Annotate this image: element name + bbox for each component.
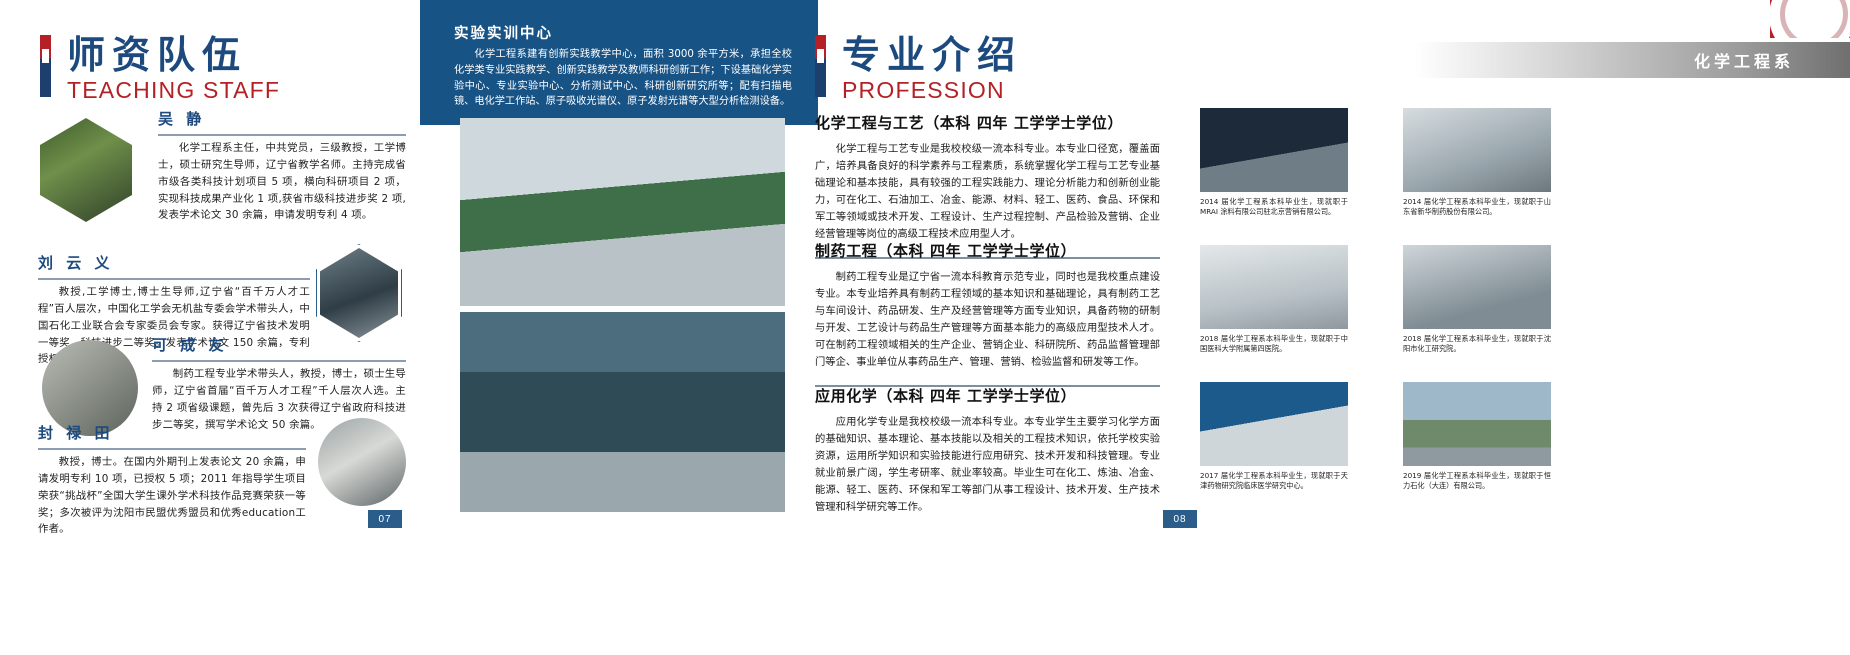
page-number-right: 08 [1163, 510, 1197, 528]
lab-center-title: 实验实训中心 [454, 22, 792, 43]
alumni-photo-0 [1200, 108, 1348, 192]
alumni-card-0: 2014 届化学工程系本科毕业生，现就职于 MRAI 涂料有限公司驻北京营销有限… [1200, 108, 1348, 218]
profession-title-1: 制药工程（本科 四年 工学学士学位） [815, 240, 1160, 261]
page-number-left: 07 [368, 510, 402, 528]
staff-name-1: 刘 云 义 [38, 252, 310, 273]
staff-divider [152, 360, 406, 362]
staff-divider [38, 278, 310, 280]
staff-divider [38, 448, 306, 450]
lab-photo-1 [460, 312, 785, 512]
lab-center-body: 化学工程系建有创新实践教学中心，面积 3000 余平方米，承担全校化学类专业实践… [454, 47, 792, 110]
alumni-card-5: 2019 届化学工程系本科毕业生，现就职于恒力石化（大连）有限公司。 [1403, 382, 1551, 492]
alumni-caption-5: 2019 届化学工程系本科毕业生，现就职于恒力石化（大连）有限公司。 [1403, 471, 1551, 492]
section-title-cn: 专业介绍 [842, 35, 1022, 75]
lab-photo-0 [460, 118, 785, 306]
staff-name-3: 封 禄 田 [38, 422, 306, 443]
alumni-caption-1: 2014 届化学工程系本科毕业生，现就职于山东省新华制药股份有限公司。 [1403, 197, 1551, 218]
alumni-card-3: 2018 届化学工程系本科毕业生，现就职于沈阳市化工研究院。 [1403, 245, 1551, 355]
heading-bar-icon [815, 35, 826, 97]
profession-body-1: 制药工程专业是辽宁省一流本科教育示范专业，同时也是我校重点建设专业。本专业培养具… [815, 269, 1160, 371]
staff-photo-0 [40, 118, 132, 222]
staff-entry-3: 封 禄 田 教授，博士。在国内外期刊上发表论文 20 余篇，申请发明专利 10 … [38, 422, 306, 538]
section-title-cn: 师资队伍 [67, 35, 280, 75]
alumni-card-2: 2018 届化学工程系本科毕业生，现就职于中国医科大学附属第四医院。 [1200, 245, 1348, 355]
profession-body-2: 应用化学专业是我校校级一流本科专业。本专业学生主要学习化学方面的基础知识、基本理… [815, 414, 1160, 516]
staff-divider [158, 134, 406, 136]
heading-bar-icon [40, 35, 51, 97]
lab-center-panel: 实验实训中心 化学工程系建有创新实践教学中心，面积 3000 余平方米，承担全校… [420, 0, 818, 125]
staff-photo-3 [318, 418, 406, 506]
staff-name-2: 可 成 友 [152, 334, 406, 355]
alumni-photo-2 [1200, 245, 1348, 329]
alumni-photo-3 [1403, 245, 1551, 329]
alumni-card-1: 2014 届化学工程系本科毕业生，现就职于山东省新华制药股份有限公司。 [1403, 108, 1551, 218]
alumni-caption-2: 2018 届化学工程系本科毕业生，现就职于中国医科大学附属第四医院。 [1200, 334, 1348, 355]
alumni-photo-4 [1200, 382, 1348, 466]
profession-heading: 专业介绍 PROFESSION [815, 35, 1022, 104]
alumni-photo-1 [1403, 108, 1551, 192]
profession-entry-1: 制药工程（本科 四年 工学学士学位） 制药工程专业是辽宁省一流本科教育示范专业，… [815, 240, 1160, 403]
staff-name-0: 吴 静 [158, 108, 406, 129]
alumni-card-4: 2017 届化学工程系本科毕业生，现就职于天津药物研究院临床医学研究中心。 [1200, 382, 1348, 492]
right-page: 化学工程系 专业介绍 PROFESSION 化学工程与工艺（本科 四年 工学学士… [795, 0, 1850, 655]
teaching-staff-heading: 师资队伍 TEACHING STAFF [40, 35, 280, 104]
alumni-caption-4: 2017 届化学工程系本科毕业生，现就职于天津药物研究院临床医学研究中心。 [1200, 471, 1348, 492]
profession-entry-2: 应用化学（本科 四年 工学学士学位） 应用化学专业是我校校级一流本科专业。本专业… [815, 385, 1160, 516]
alumni-caption-0: 2014 届化学工程系本科毕业生，现就职于 MRAI 涂料有限公司驻北京营销有限… [1200, 197, 1348, 218]
staff-bio-0: 化学工程系主任，中共党员，三级教授，工学博士，硕士研究生导师，辽宁省教学名师。主… [158, 140, 406, 224]
profession-title-0: 化学工程与工艺（本科 四年 工学学士学位） [815, 112, 1160, 133]
profession-body-0: 化学工程与工艺专业是我校校级一流本科专业。本专业口径宽，覆盖面广，培养具备良好的… [815, 141, 1160, 243]
brochure-spread: 师资队伍 TEACHING STAFF 吴 静 化学工程系主任，中共党员，三级教… [0, 0, 1850, 655]
staff-bio-3: 教授，博士。在国内外期刊上发表论文 20 余篇，申请发明专利 10 项，已授权 … [38, 454, 306, 538]
department-banner: 化学工程系 [1415, 42, 1850, 78]
section-title-en: PROFESSION [842, 77, 1022, 104]
staff-entry-0: 吴 静 化学工程系主任，中共党员，三级教授，工学博士，硕士研究生导师，辽宁省教学… [158, 108, 406, 224]
profession-title-2: 应用化学（本科 四年 工学学士学位） [815, 385, 1160, 406]
section-title-en: TEACHING STAFF [67, 77, 280, 104]
alumni-photo-5 [1403, 382, 1551, 466]
alumni-caption-3: 2018 届化学工程系本科毕业生，现就职于沈阳市化工研究院。 [1403, 334, 1551, 355]
